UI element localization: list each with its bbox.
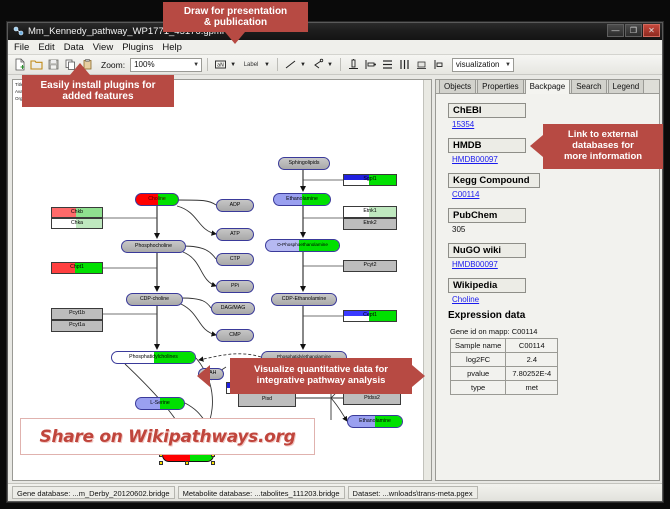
node-label: CDP-Ethanolamine: [282, 297, 326, 302]
tab-search[interactable]: Search: [571, 79, 606, 93]
data-node-icon[interactable]: aN: [213, 57, 228, 72]
statusbar: Gene database: ...m_Derby_20120602.bridg…: [8, 483, 662, 501]
callout-visualize-text: Visualize quantitative data for integrat…: [254, 365, 388, 387]
toolbar-separator: [277, 58, 278, 71]
node-o-phosphoethanolamine[interactable]: O-Phosphoethanolamine: [265, 239, 340, 252]
gene-label: Chkb: [71, 210, 83, 215]
callout-draw-arrow-icon: [225, 32, 245, 44]
gene-cept1[interactable]: Cept1: [343, 310, 397, 322]
gene-sgpl1[interactable]: Sgpl1: [343, 174, 397, 186]
distribute-vertical-icon[interactable]: [380, 57, 395, 72]
callout-link-text: Link to external databases for more info…: [564, 130, 642, 163]
gene-chka[interactable]: Chka: [51, 218, 103, 229]
pathvisio-icon: [13, 26, 24, 37]
menu-view[interactable]: View: [92, 42, 114, 53]
gene-label: Etnk1: [363, 209, 376, 214]
gene-label: Cept1: [363, 313, 377, 318]
align-top-icon[interactable]: [346, 57, 361, 72]
gene-label: Sgpl1: [363, 177, 376, 182]
callout-plugins-arrow-icon: [70, 63, 90, 75]
db-link-wikipedia[interactable]: Choline: [452, 295, 653, 304]
table-row: Sample name C00114: [451, 339, 558, 353]
selection-handle-s[interactable]: [185, 461, 189, 465]
table-row: log2FC 2.4: [451, 353, 558, 367]
db-header-wikipedia: Wikipedia: [448, 278, 526, 293]
chevron-down-icon[interactable]: ▼: [230, 62, 236, 68]
gene-etnk2[interactable]: Etnk2: [343, 218, 397, 230]
gene-label: Chpt1: [70, 265, 84, 270]
db-link-kegg-compound[interactable]: C00114: [452, 190, 653, 199]
gene-pcyt1b[interactable]: Pcyt1b: [51, 308, 103, 320]
node-label: L-Serine: [150, 401, 170, 406]
chevron-down-icon[interactable]: ▼: [327, 62, 333, 68]
node-label: CMP: [229, 333, 241, 338]
db-link-nugo-wiki[interactable]: HMDB00097: [452, 260, 653, 269]
callout-visualize-arrow-right-icon: [412, 365, 425, 387]
distribute-horizontal-icon[interactable]: [397, 57, 412, 72]
node-label: Phosphocholine: [135, 244, 172, 249]
status-metabolite-database: Metabolite database: ...tabolites_111203…: [178, 486, 345, 499]
db-header-chebi: ChEBI: [448, 103, 526, 118]
screenshot-root: Mm_Kennedy_pathway_WP1771_45176.gpml — ❐…: [0, 0, 670, 509]
gene-pisd[interactable]: Pisd: [238, 393, 296, 407]
node-dag-mag[interactable]: DAG/MAG: [211, 302, 255, 315]
node-choline-top[interactable]: Choline: [135, 193, 179, 206]
node-label: Sphingolipids: [289, 161, 320, 166]
label-button[interactable]: Label: [240, 57, 262, 72]
cell-value: met: [506, 381, 558, 395]
node-label: Ethanolamine: [359, 419, 391, 424]
node-label: Ethanolamine: [286, 197, 318, 202]
node-atp[interactable]: ATP: [216, 228, 254, 241]
db-header-hmdb: HMDB: [448, 138, 526, 153]
gene-id-on-mapp: Gene id on mapp: C00114: [450, 327, 653, 336]
node-label: ADP: [230, 203, 241, 208]
callout-share: Share on Wikipathways.org: [20, 418, 315, 455]
toolbar-separator: [207, 58, 208, 71]
cell-key: Sample name: [451, 339, 506, 353]
selection-handle-se[interactable]: [211, 461, 215, 465]
menu-plugins[interactable]: Plugins: [121, 42, 154, 53]
node-ppi[interactable]: PPi: [216, 280, 254, 293]
callout-visualize-arrow-icon: [197, 365, 210, 387]
close-button[interactable]: ✕: [643, 24, 660, 37]
zoom-value: 100%: [134, 60, 154, 69]
node-label: Phosphatidylcholines: [129, 355, 178, 360]
node-cmp[interactable]: CMP: [216, 329, 254, 342]
callout-plugins-text: Easily install plugins for added feature…: [40, 80, 155, 103]
gene-label: Pcyt1b: [69, 311, 85, 316]
tab-backpage[interactable]: Backpage: [525, 79, 571, 94]
maximize-button[interactable]: ❐: [625, 24, 642, 37]
interaction-icon[interactable]: [310, 57, 325, 72]
visualization-value: visualization: [456, 60, 500, 69]
node-label: CDP-choline: [140, 297, 169, 302]
cell-key: log2FC: [451, 353, 506, 367]
zoom-label: Zoom:: [101, 60, 125, 70]
db-header-nugo-wiki: NuGO wiki: [448, 243, 526, 258]
chevron-down-icon[interactable]: ▼: [300, 62, 306, 68]
node-cdp-choline[interactable]: CDP-choline: [126, 293, 183, 306]
gene-chpt1[interactable]: Chpt1: [51, 262, 103, 274]
zoom-combo[interactable]: 100% ▼: [130, 58, 202, 72]
node-label: Choline: [148, 197, 166, 202]
selection-handle-sw[interactable]: [159, 461, 163, 465]
node-label: ATP: [230, 232, 240, 237]
gene-pcyt1a[interactable]: Pcyt1a: [51, 320, 103, 332]
callout-plugins: Easily install plugins for added feature…: [22, 75, 174, 107]
node-adp[interactable]: ADP: [216, 199, 254, 212]
new-icon[interactable]: [12, 57, 27, 72]
cell-key: type: [451, 381, 506, 395]
menu-data[interactable]: Data: [63, 42, 85, 53]
tab-properties[interactable]: Properties: [477, 79, 523, 93]
window-controls[interactable]: — ❐ ✕: [607, 24, 660, 37]
cell-value: 7.80252E-4: [506, 367, 558, 381]
sidebar-tabs: Objects Properties Backpage Search Legen…: [436, 80, 659, 94]
menu-help[interactable]: Help: [161, 42, 183, 53]
gene-label: Etnk2: [363, 221, 376, 226]
gene-pcyt2[interactable]: Pcyt2: [343, 260, 397, 272]
callout-visualize: Visualize quantitative data for integrat…: [230, 358, 412, 394]
node-cdp-ethanolamine[interactable]: CDP-Ethanolamine: [271, 293, 337, 306]
gene-etnk1[interactable]: Etnk1: [343, 206, 397, 218]
table-row: pvalue 7.80252E-4: [451, 367, 558, 381]
expression-data-table: Sample name C00114 log2FC 2.4 pvalue 7.8…: [450, 338, 558, 395]
callout-share-text: Share on Wikipathways.org: [40, 427, 296, 447]
node-ctp[interactable]: CTP: [216, 253, 254, 266]
db-value-pubchem: 305: [452, 225, 653, 234]
chevron-down-icon: ▼: [505, 62, 511, 68]
status-dataset: Dataset: ...wnloads\trans-meta.pgex: [348, 486, 478, 499]
gene-label: Ptdss2: [364, 396, 380, 401]
stack-icon[interactable]: [414, 57, 429, 72]
node-sphingolipids[interactable]: Sphingolipids: [278, 157, 330, 170]
gene-label: Chka: [71, 221, 83, 226]
callout-draw-text: Draw for presentation & publication: [184, 6, 287, 29]
node-label: PPi: [231, 284, 239, 289]
node-ethanolamine-right[interactable]: Ethanolamine: [347, 415, 403, 428]
open-folder-icon[interactable]: [29, 57, 44, 72]
tab-objects[interactable]: Objects: [439, 79, 476, 93]
db-header-pubchem: PubChem: [448, 208, 526, 223]
callout-link-arrow-icon: [530, 135, 543, 157]
callout-link: Link to external databases for more info…: [543, 124, 663, 169]
gene-label: Pcyt1a: [69, 323, 85, 328]
visualization-combo[interactable]: visualization ▼: [452, 58, 514, 72]
gene-chkb[interactable]: Chkb: [51, 207, 103, 218]
menu-file[interactable]: File: [13, 42, 30, 53]
label-button-text: Label: [244, 62, 259, 68]
group-icon[interactable]: [431, 57, 446, 72]
node-ethanolamine-top[interactable]: Ethanolamine: [273, 193, 331, 206]
chevron-down-icon[interactable]: ▼: [264, 62, 270, 68]
tab-legend[interactable]: Legend: [608, 79, 645, 93]
node-phosphatidylcholines[interactable]: Phosphatidylcholines: [111, 351, 196, 364]
menubar: File Edit Data View Plugins Help: [8, 40, 662, 55]
gene-label: Pisd: [262, 397, 272, 402]
svg-text:aN: aN: [217, 62, 224, 68]
menu-edit[interactable]: Edit: [37, 42, 55, 53]
save-icon[interactable]: [46, 57, 61, 72]
align-left-icon[interactable]: [363, 57, 378, 72]
table-row: type met: [451, 381, 558, 395]
node-label: DAG/MAG: [221, 306, 246, 311]
line-icon[interactable]: [283, 57, 298, 72]
cell-value: C00114: [506, 339, 558, 353]
chevron-down-icon: ▼: [193, 62, 199, 68]
minimize-button[interactable]: —: [607, 24, 624, 37]
status-gene-database: Gene database: ...m_Derby_20120602.bridg…: [12, 486, 175, 499]
node-label: CTP: [230, 257, 240, 262]
node-l-serine-left[interactable]: L-Serine: [135, 397, 185, 410]
gene-label: Pcyt2: [364, 263, 377, 268]
toolbar: Zoom: 100% ▼ aN ▼ Label ▼ ▼ ▼: [8, 55, 662, 75]
cell-key: pvalue: [451, 367, 506, 381]
expression-data-heading: Expression data: [448, 310, 653, 321]
db-header-kegg-compound: Kegg Compound: [448, 173, 540, 188]
canvas-vertical-scrollbar[interactable]: [423, 80, 431, 480]
node-label: O-Phosphoethanolamine: [277, 243, 328, 248]
callout-draw: Draw for presentation & publication: [163, 2, 308, 32]
window-titlebar: Mm_Kennedy_pathway_WP1771_45176.gpml — ❐…: [8, 23, 662, 40]
cell-value: 2.4: [506, 353, 558, 367]
toolbar-separator: [340, 58, 341, 71]
node-phosphocholine[interactable]: Phosphocholine: [121, 240, 186, 253]
